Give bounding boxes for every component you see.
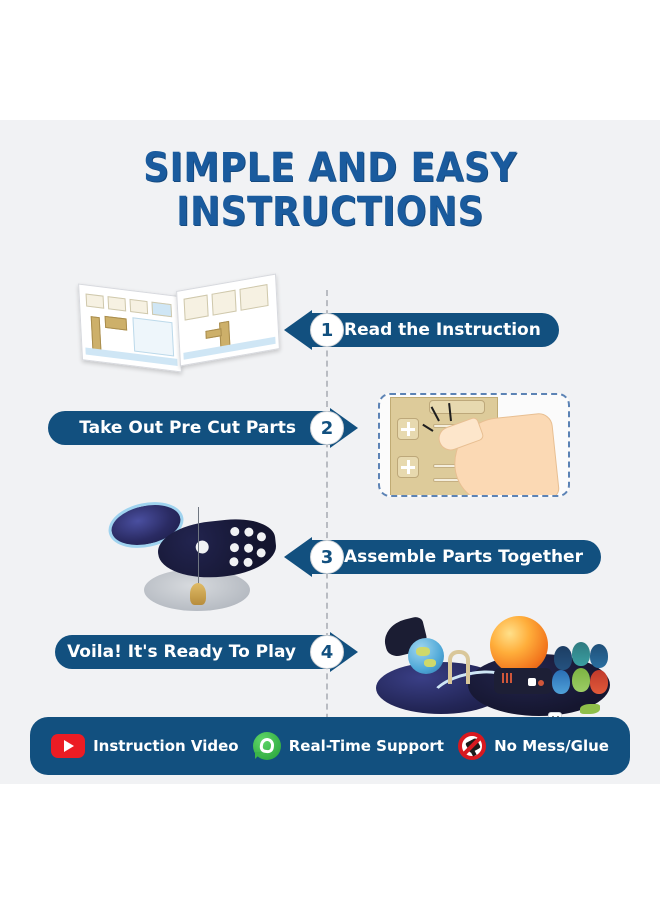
feature-footer-bar: Instruction Video Real-Time Support No M… [30, 717, 630, 775]
footer-item-real-time-support[interactable]: Real-Time Support [253, 732, 444, 760]
step-3-label: Assemble Parts Together [344, 547, 583, 567]
step-4-banner[interactable]: Voila! It's Ready To Play [55, 635, 332, 669]
whatsapp-icon [253, 732, 281, 760]
wooden-arch [448, 650, 470, 684]
page-title-line-1: SIMPLE AND EASY [143, 145, 517, 191]
step-4-label: Voila! It's Ready To Play [67, 642, 296, 662]
step-2-illustration-hand-punching-part [378, 393, 570, 497]
page-title: SIMPLE AND EASY INSTRUCTIONS [0, 148, 660, 232]
step-2-number: 2 [321, 418, 334, 439]
sun-sphere [490, 616, 548, 674]
footer-label-no-mess-glue: No Mess/Glue [494, 737, 609, 755]
step-2-banner[interactable]: Take Out Pre Cut Parts [48, 411, 332, 445]
step-1-number-badge: 1 [310, 313, 344, 347]
page-title-line-2: INSTRUCTIONS [0, 192, 660, 232]
instructions-poster: SIMPLE AND EASY INSTRUCTIONS [0, 120, 660, 784]
step-2-label: Take Out Pre Cut Parts [79, 418, 296, 438]
step-1-arrow-left-icon [284, 310, 312, 350]
gold-part [190, 583, 206, 605]
step-row-3: Assemble Parts Together 3 [0, 495, 660, 615]
step-2-number-badge: 2 [310, 411, 344, 445]
planet-piece [590, 644, 608, 668]
step-4-number-badge: 4 [310, 635, 344, 669]
planet-piece [572, 642, 590, 666]
booklet-right-page [176, 274, 280, 367]
planet-piece [554, 646, 572, 670]
planet-piece [572, 668, 590, 692]
planet-piece [590, 670, 608, 694]
small-plane-piece [580, 704, 600, 714]
footer-label-instruction-video: Instruction Video [93, 737, 239, 755]
rover-piece [494, 668, 552, 694]
step-3-number-badge: 3 [310, 540, 344, 574]
footer-item-instruction-video[interactable]: Instruction Video [51, 734, 239, 758]
alignment-line [198, 507, 199, 589]
step-1-number: 1 [321, 320, 334, 341]
step-4-number: 4 [321, 642, 334, 663]
footer-label-real-time-support: Real-Time Support [289, 737, 444, 755]
no-glue-icon [458, 732, 486, 760]
step-3-banner[interactable]: Assemble Parts Together [310, 540, 601, 574]
step-3-number: 3 [321, 547, 334, 568]
step-1-label: Read the Instruction [344, 320, 541, 340]
step-1-illustration-instruction-booklet [78, 276, 283, 376]
step-3-illustration-puzzle-pieces [100, 499, 295, 615]
step-3-arrow-left-icon [284, 537, 312, 577]
step-4-illustration-finished-model [372, 612, 610, 730]
step-row-2: Take Out Pre Cut Parts 2 [0, 385, 660, 505]
step-row-4: Voila! It's Ready To Play 4 [0, 610, 660, 730]
step-row-1: Read the Instruction 1 [0, 270, 660, 390]
dashed-frame [378, 393, 570, 497]
footer-item-no-mess-glue[interactable]: No Mess/Glue [458, 732, 609, 760]
step-1-banner[interactable]: Read the Instruction [310, 313, 559, 347]
booklet-left-page [78, 284, 182, 373]
youtube-icon [51, 734, 85, 758]
earth-globe [408, 638, 444, 674]
planet-piece [552, 670, 570, 694]
